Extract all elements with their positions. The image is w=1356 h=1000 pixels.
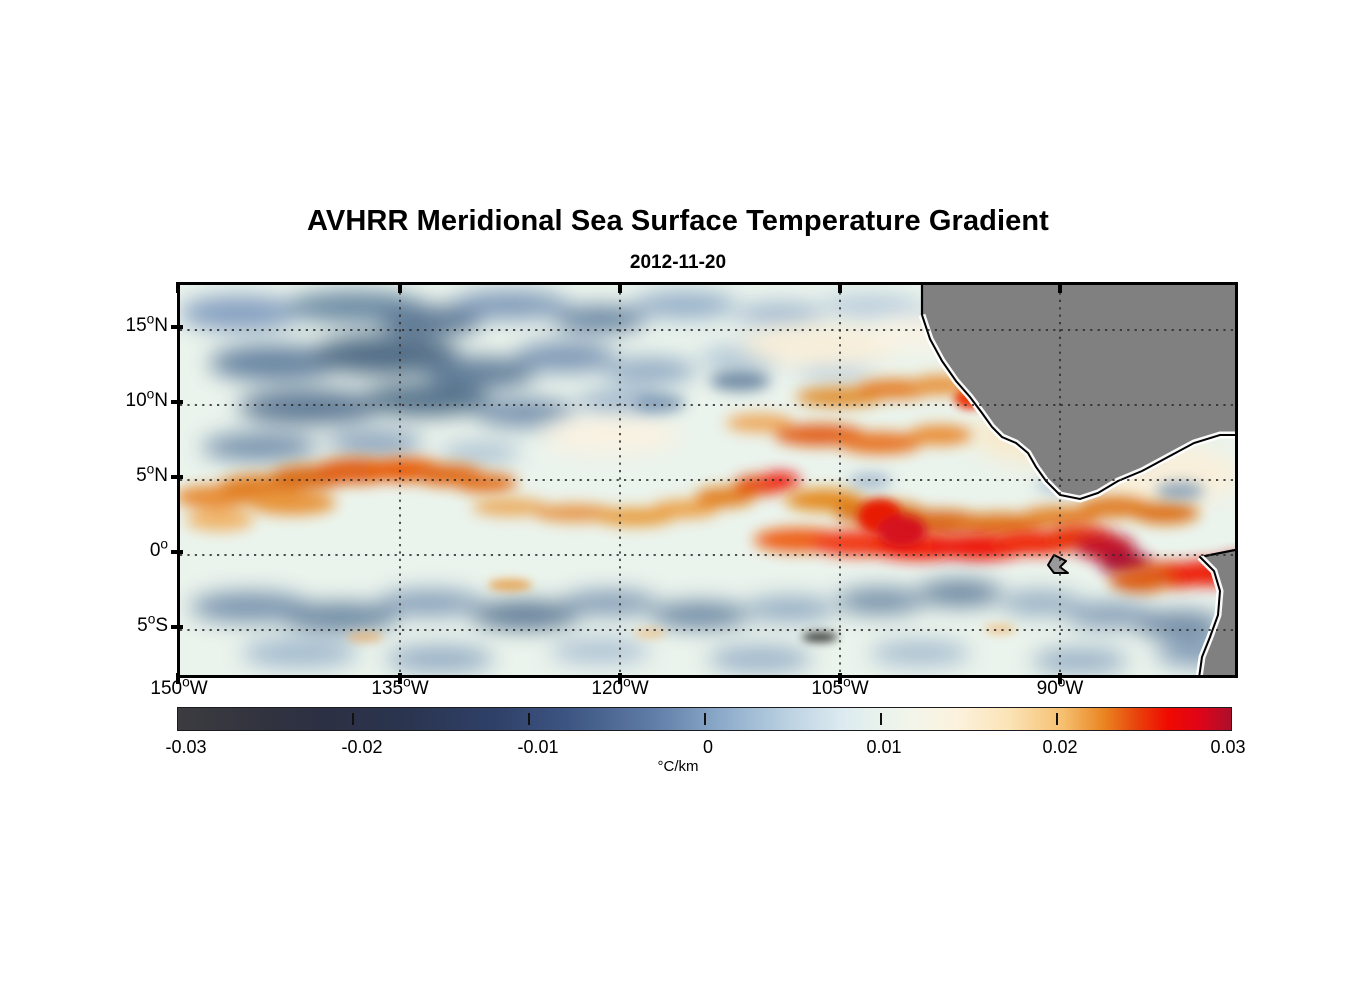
colorbar-tick-0 <box>704 713 706 725</box>
ytick-mark-5n <box>171 475 183 479</box>
colorbar-unit-label: °C/km <box>0 758 1356 775</box>
ytick-label-10n: 10oN <box>126 390 168 412</box>
xtick-mark-top-120w <box>618 282 622 293</box>
xtick-label-150w: 150oW <box>150 678 207 700</box>
xtick-mark-top-135w <box>398 282 402 293</box>
figure-canvas: AVHRR Meridional Sea Surface Temperature… <box>0 0 1356 1000</box>
colorbar-label-0.03: 0.03 <box>1210 737 1245 758</box>
xtick-mark-top-150w <box>176 282 180 293</box>
ytick-label-5n: 5oN <box>136 465 168 487</box>
figure-title: AVHRR Meridional Sea Surface Temperature… <box>0 205 1356 238</box>
colorbar-tick--0.01 <box>528 713 530 725</box>
colorbar-label--0.03: -0.03 <box>165 737 206 758</box>
xtick-mark-top-105w <box>838 282 842 293</box>
colorbar-label-0: 0 <box>703 737 713 758</box>
ytick-label-5s: 5oS <box>137 615 168 637</box>
xtick-mark-top-90w <box>1058 282 1062 293</box>
ytick-mark-15n <box>171 325 183 329</box>
ytick-mark-5s <box>171 625 183 629</box>
colorbar-label--0.01: -0.01 <box>517 737 558 758</box>
xtick-label-135w: 135oW <box>371 678 428 700</box>
ytick-mark-0 <box>171 550 183 554</box>
xtick-label-90w: 90oW <box>1037 678 1084 700</box>
sst-gradient-heatmap <box>180 285 1235 675</box>
map-plot-area[interactable] <box>177 282 1238 678</box>
colorbar-tick-0.02 <box>1056 713 1058 725</box>
colorbar-label-0.02: 0.02 <box>1042 737 1077 758</box>
ytick-mark-10n <box>171 400 183 404</box>
figure-subtitle: 2012-11-20 <box>0 252 1356 274</box>
xtick-label-120w: 120oW <box>591 678 648 700</box>
colorbar-tick--0.02 <box>352 713 354 725</box>
colorbar[interactable] <box>177 707 1232 731</box>
colorbar-tick-0.01 <box>880 713 882 725</box>
colorbar-label-0.01: 0.01 <box>866 737 901 758</box>
colorbar-label--0.02: -0.02 <box>341 737 382 758</box>
xtick-label-105w: 105oW <box>811 678 868 700</box>
ytick-label-0: 0o <box>150 540 168 562</box>
ytick-label-15n: 15oN <box>126 315 168 337</box>
